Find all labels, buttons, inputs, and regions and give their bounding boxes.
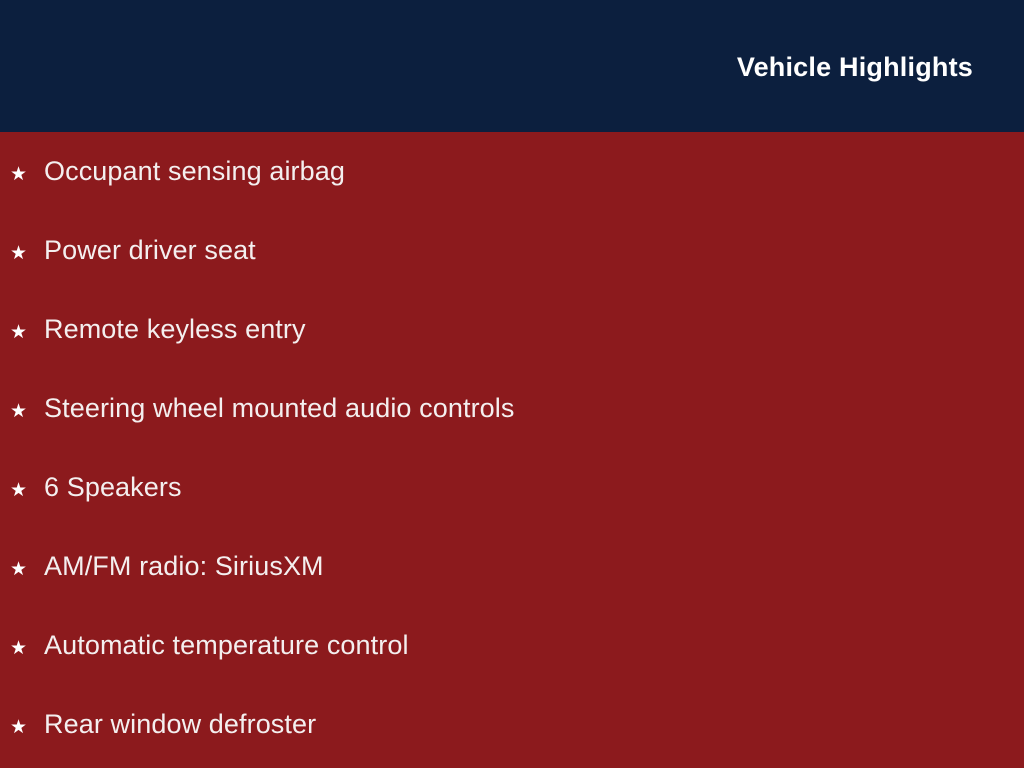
list-item: ★Steering wheel mounted audio controls bbox=[10, 391, 515, 425]
list-item: ★6 Speakers bbox=[10, 470, 182, 504]
vehicle-highlights-list: ★Occupant sensing airbag★Power driver se… bbox=[0, 132, 1024, 768]
star-icon: ★ bbox=[10, 710, 44, 744]
presentation-slide: Vehicle Highlights ★Occupant sensing air… bbox=[0, 0, 1024, 768]
list-item-label: Steering wheel mounted audio controls bbox=[44, 391, 515, 425]
star-icon: ★ bbox=[10, 315, 44, 349]
list-item-label: Power driver seat bbox=[44, 233, 256, 267]
list-item: ★AM/FM radio: SiriusXM bbox=[10, 549, 324, 583]
list-item: ★Occupant sensing airbag bbox=[10, 154, 345, 188]
list-item: ★Power driver seat bbox=[10, 233, 256, 267]
list-item: ★Rear window defroster bbox=[10, 707, 316, 741]
list-item-label: 6 Speakers bbox=[44, 470, 182, 504]
list-item-label: Occupant sensing airbag bbox=[44, 154, 345, 188]
page-title: Vehicle Highlights bbox=[737, 54, 973, 81]
list-item-label: Remote keyless entry bbox=[44, 312, 306, 346]
star-icon: ★ bbox=[10, 157, 44, 191]
list-item-label: Automatic temperature control bbox=[44, 628, 409, 662]
star-icon: ★ bbox=[10, 552, 44, 586]
star-icon: ★ bbox=[10, 394, 44, 428]
list-item-label: AM/FM radio: SiriusXM bbox=[44, 549, 324, 583]
list-item-label: Rear window defroster bbox=[44, 707, 316, 741]
star-icon: ★ bbox=[10, 631, 44, 665]
star-icon: ★ bbox=[10, 236, 44, 270]
star-icon: ★ bbox=[10, 473, 44, 507]
slide-header-band: Vehicle Highlights bbox=[0, 0, 1024, 132]
list-item: ★Automatic temperature control bbox=[10, 628, 409, 662]
list-item: ★Remote keyless entry bbox=[10, 312, 306, 346]
